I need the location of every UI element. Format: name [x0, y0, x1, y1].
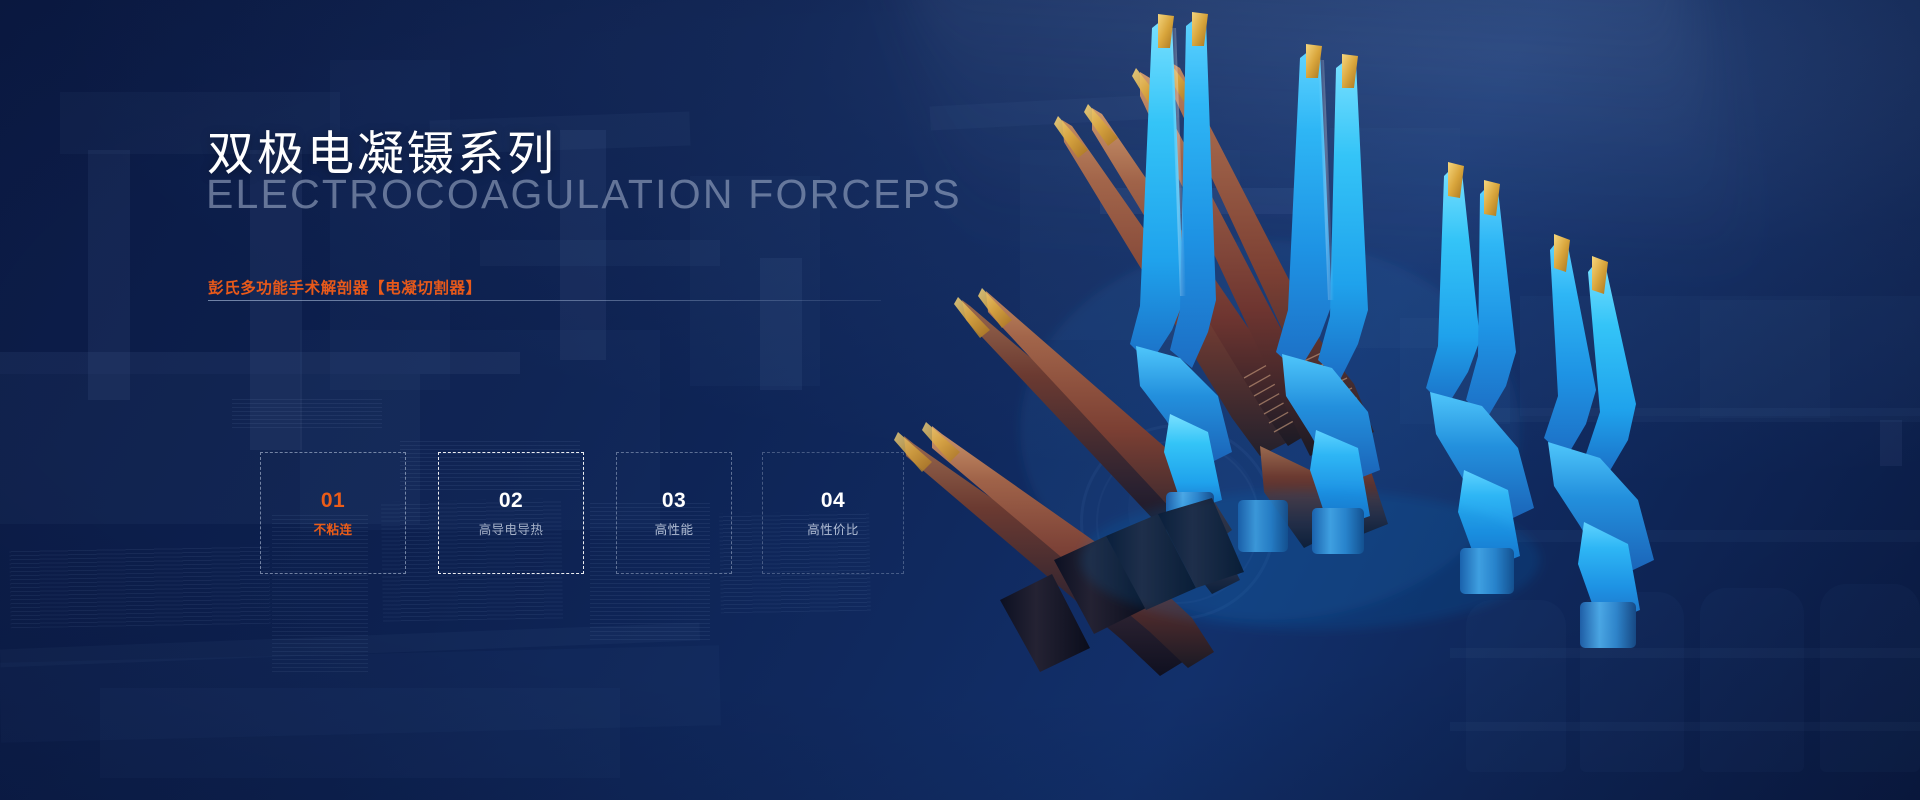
- feature-number: 04: [821, 490, 845, 511]
- feature-label: 不粘连: [314, 524, 353, 537]
- feature-label: 高性能: [655, 524, 694, 537]
- feature-label: 高导电导热: [479, 524, 544, 537]
- feature-card-01[interactable]: 01 不粘连: [260, 452, 406, 574]
- feature-card-03[interactable]: 03 高性能: [616, 452, 732, 574]
- feature-card-02[interactable]: 02 高导电导热: [438, 452, 584, 574]
- feature-card-04[interactable]: 04 高性价比: [762, 452, 904, 574]
- product-tagline: 彭氏多功能手术解剖器【电凝切割器】: [208, 276, 482, 298]
- product-hero-banner: 双极电凝镊系列 ELECTROCOAGULATION FORCEPS 彭氏多功能…: [0, 0, 1920, 800]
- feature-label: 高性价比: [807, 524, 859, 537]
- feature-number: 03: [662, 490, 686, 511]
- page-subtitle-english: ELECTROCOAGULATION FORCEPS: [206, 171, 962, 218]
- divider-line: [208, 300, 881, 301]
- feature-number: 02: [499, 490, 523, 511]
- feature-number: 01: [321, 490, 345, 511]
- hero-text-content: 双极电凝镊系列 ELECTROCOAGULATION FORCEPS 彭氏多功能…: [0, 0, 1000, 800]
